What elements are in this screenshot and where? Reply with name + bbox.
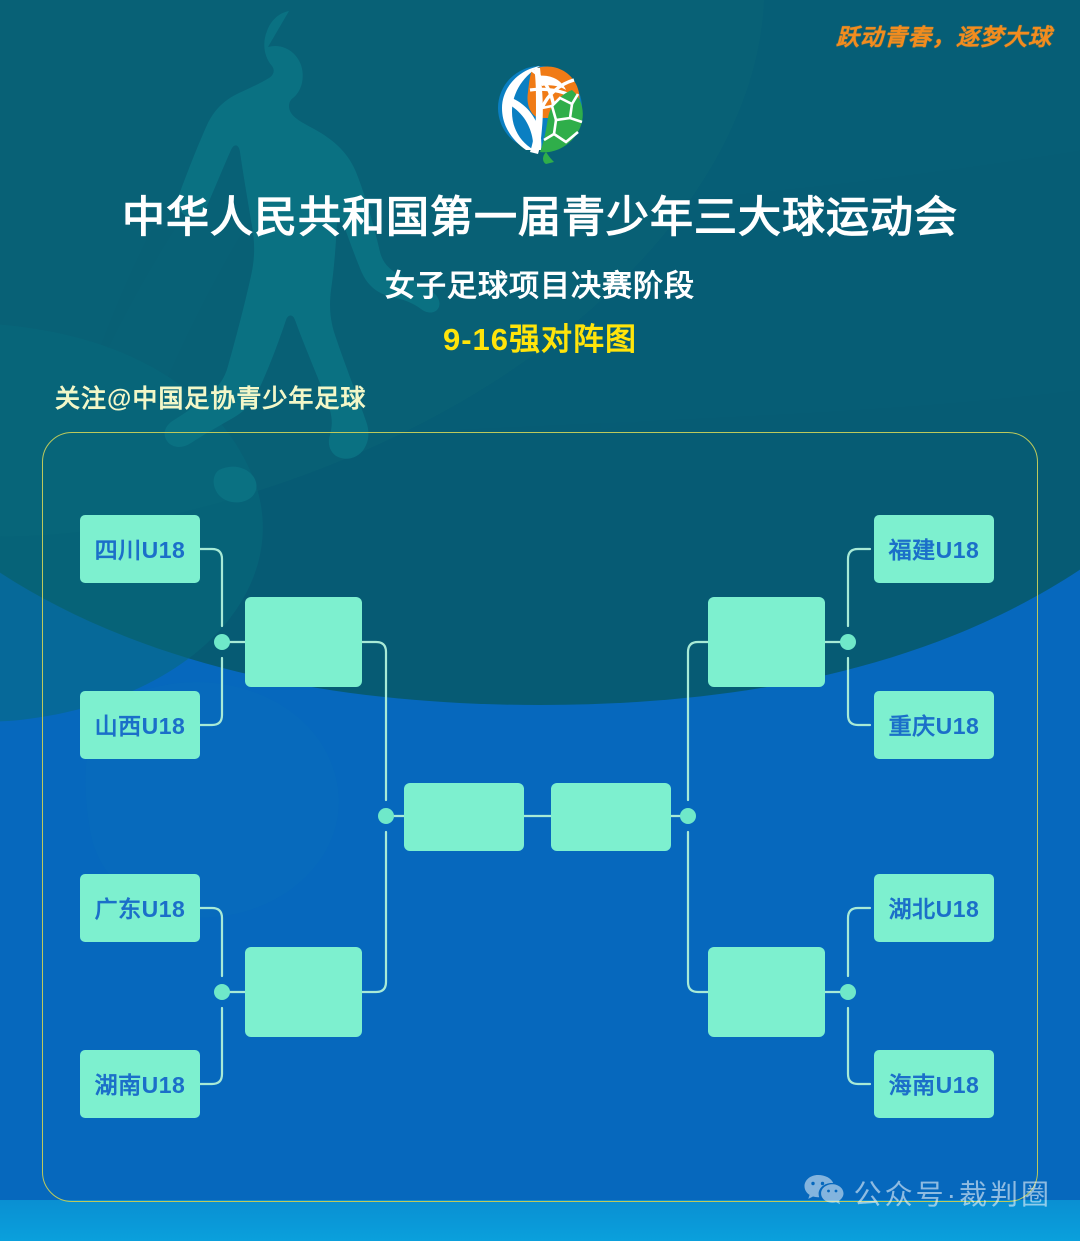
team-label: 山西U18 — [95, 713, 186, 739]
team-label: 海南U18 — [889, 1072, 980, 1098]
team-box[interactable]: 广东U18 — [80, 874, 200, 942]
match-slot-box[interactable] — [551, 783, 671, 851]
page-title: 中华人民共和国第一届青少年三大球运动会 — [0, 183, 1080, 245]
bracket-stage-title: 9-16强对阵图 — [0, 314, 1080, 359]
match-slot-box[interactable] — [245, 947, 362, 1037]
team-box[interactable]: 山西U18 — [80, 691, 200, 759]
match-slot-box[interactable] — [708, 947, 825, 1037]
team-label: 广东U18 — [95, 896, 186, 922]
page-subtitle: 女子足球项目决赛阶段 — [0, 261, 1080, 305]
team-box[interactable]: 四川U18 — [80, 515, 200, 583]
team-box[interactable]: 重庆U18 — [874, 691, 994, 759]
team-box[interactable]: 海南U18 — [874, 1050, 994, 1118]
team-box[interactable]: 湖南U18 — [80, 1050, 200, 1118]
team-label: 湖南U18 — [95, 1072, 186, 1098]
team-box[interactable]: 福建U18 — [874, 515, 994, 583]
three-balls-globe-icon — [486, 56, 594, 173]
watermark: 公众号·裁判圈 — [804, 1173, 1052, 1213]
watermark-text: 公众号·裁判圈 — [854, 1173, 1052, 1213]
team-label: 湖北U18 — [889, 896, 980, 922]
follow-account-text: 关注@中国足协青少年足球 — [55, 379, 366, 415]
team-box[interactable]: 湖北U18 — [874, 874, 994, 942]
wechat-icon — [804, 1174, 844, 1213]
team-label: 福建U18 — [888, 537, 980, 563]
event-slogan: 跃动青春，逐梦大球 — [836, 18, 1052, 52]
team-label: 四川U18 — [95, 537, 186, 563]
team-label: 重庆U18 — [889, 713, 980, 739]
match-slot-box[interactable] — [245, 597, 362, 687]
match-slot-box[interactable] — [404, 783, 524, 851]
match-slot-box[interactable] — [708, 597, 825, 687]
